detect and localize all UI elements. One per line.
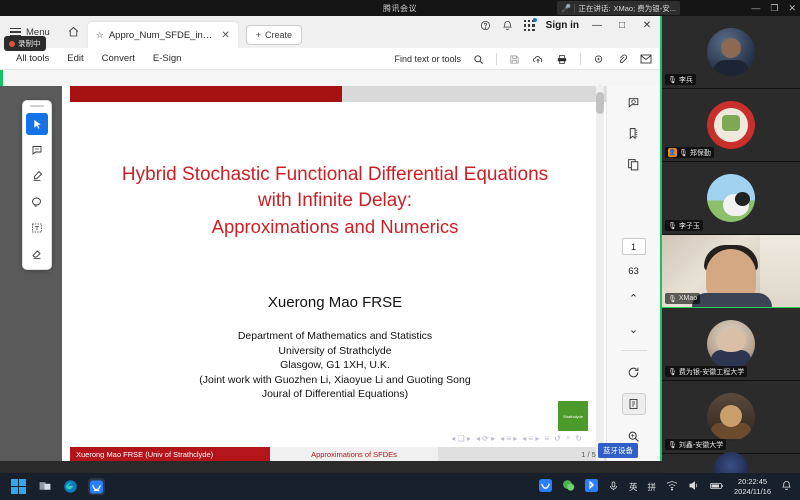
participant-name-badge: 🎙 XMao bbox=[665, 293, 700, 304]
affiliation-line2: University of Strathclyde bbox=[62, 344, 608, 359]
document-tab[interactable]: ☆ Appro_Num_SFDE_inft... ✕ bbox=[88, 22, 238, 48]
select-tool-button[interactable] bbox=[26, 113, 48, 135]
participant-name-badge: 🎙 李子玉 bbox=[665, 220, 703, 231]
apps-grid-icon[interactable] bbox=[524, 20, 535, 31]
participant-tile[interactable]: 🎙 费为银-安徽工程大学 bbox=[662, 308, 800, 381]
mic-muted-icon: 🎙 bbox=[668, 441, 677, 449]
help-icon[interactable] bbox=[480, 20, 491, 31]
avatar bbox=[707, 101, 755, 149]
participant-name: 李兵 bbox=[679, 75, 693, 85]
search-icon[interactable] bbox=[473, 54, 484, 65]
edit-button[interactable]: Edit bbox=[67, 53, 83, 64]
bluetooth-device-button[interactable]: 蓝牙设备 bbox=[598, 443, 638, 458]
meeting-app-title: 腾讯会议 bbox=[383, 3, 417, 14]
toolbar-right-group: Find text or tools bbox=[394, 48, 652, 70]
close-icon[interactable]: ✕ bbox=[221, 30, 229, 41]
windows-start-button[interactable] bbox=[10, 478, 27, 495]
home-icon bbox=[67, 26, 80, 38]
mic-muted-icon: 🎙 bbox=[668, 368, 677, 376]
taskbar-apps bbox=[0, 478, 105, 495]
participant-tile-active-speaker[interactable]: 🎙 XMao bbox=[662, 235, 800, 308]
slide-footer: Xuerong Mao FRSE (Univ of Strathclyde) A… bbox=[70, 447, 608, 461]
slide-title-line1: Hybrid Stochastic Functional Differentia… bbox=[62, 162, 608, 188]
participant-name: 郑保勤 bbox=[690, 148, 711, 158]
divider bbox=[580, 53, 581, 65]
slide-footer-left: Xuerong Mao FRSE (Univ of Strathclyde) bbox=[70, 447, 270, 461]
speaking-name: XMao; 费为银-安... bbox=[613, 3, 676, 14]
host-badge-icon: 👤 bbox=[668, 148, 677, 157]
nav-second-group[interactable]: ◂ ⟳ ▸ bbox=[476, 434, 495, 443]
annotation-toolbar bbox=[22, 100, 52, 270]
acrobat-window: Menu ☆ Appro_Num_SFDE_inft... ✕ + Create bbox=[0, 16, 662, 473]
mic-active-icon: 🎙 bbox=[668, 295, 677, 303]
next-page-button[interactable]: ⌄ bbox=[623, 319, 645, 339]
participant-tile[interactable]: 🎙 李兵 bbox=[662, 16, 800, 89]
affiliation-line5: Joural of Differential Equations) bbox=[62, 387, 608, 402]
taskbar-system-tray: 英 拼 20:22:45 2024/11/16 bbox=[539, 477, 792, 497]
participant-name: 刘鑫-安徽大学 bbox=[679, 440, 723, 450]
acrobat-top-right-controls: Sign in — □ ✕ bbox=[480, 20, 654, 31]
all-tools-button[interactable]: All tools bbox=[16, 53, 49, 64]
tencent-meeting-window: 腾讯会议 🎤 正在讲话: XMao; 费为银-安... — ❐ ✕ Menu bbox=[0, 0, 800, 500]
rotate-button[interactable] bbox=[623, 362, 645, 382]
acrobat-bottom-strip bbox=[0, 461, 662, 473]
wifi-icon[interactable] bbox=[666, 480, 678, 493]
pages-panel-icon[interactable] bbox=[623, 154, 645, 174]
edge-icon bbox=[63, 479, 78, 494]
nav-first-group[interactable]: ◂ ❑ ▸ bbox=[451, 434, 471, 443]
previous-page-button[interactable]: ⌃ bbox=[623, 288, 645, 308]
avatar bbox=[707, 393, 755, 441]
clock-date: 2024/11/16 bbox=[734, 487, 771, 497]
divider bbox=[574, 4, 575, 13]
create-label: Create bbox=[265, 30, 292, 40]
participant-tile[interactable]: 🎙 李子玉 bbox=[662, 162, 800, 235]
document-tab-title: Appro_Num_SFDE_inft... bbox=[109, 30, 215, 41]
meeting-close-button[interactable]: ✕ bbox=[788, 3, 796, 14]
participant-name-badge: 🎙 李兵 bbox=[665, 74, 696, 85]
save-icon[interactable] bbox=[509, 54, 520, 65]
highlighter-icon bbox=[31, 170, 43, 182]
bell-icon[interactable] bbox=[502, 20, 513, 31]
comment-tool-button[interactable] bbox=[26, 139, 48, 161]
mic-muted-icon: 🎙 bbox=[668, 76, 677, 84]
lasso-icon bbox=[31, 196, 43, 208]
nav-back-icon[interactable]: ↺ bbox=[554, 434, 561, 443]
star-icon[interactable]: ☆ bbox=[96, 30, 104, 41]
tray-mic-icon[interactable] bbox=[608, 480, 619, 494]
cursor-icon bbox=[32, 119, 43, 130]
battery-icon[interactable] bbox=[710, 481, 724, 493]
pdf-page[interactable]: Hybrid Stochastic Functional Differentia… bbox=[62, 86, 608, 461]
task-view-icon bbox=[38, 480, 52, 493]
affiliation-line1: Department of Mathematics and Statistics bbox=[62, 329, 608, 344]
create-button[interactable]: + Create bbox=[246, 25, 302, 45]
text-box-icon bbox=[31, 222, 43, 234]
windows-start-icon bbox=[11, 479, 26, 494]
stamp-icon[interactable] bbox=[593, 54, 605, 65]
fit-page-button[interactable] bbox=[622, 393, 646, 415]
slide-author: Xuerong Mao FRSE bbox=[62, 294, 608, 311]
participant-name-badge: 👤 🎙 郑保勤 bbox=[665, 147, 714, 158]
clock-time: 20:22:45 bbox=[734, 477, 771, 487]
university-logo-text: Strathclyde bbox=[563, 414, 583, 419]
edge-button[interactable] bbox=[62, 478, 79, 495]
windows-taskbar: 英 拼 20:22:45 2024/11/16 bbox=[0, 473, 800, 500]
scrollbar-track[interactable] bbox=[596, 86, 604, 461]
draw-tool-button[interactable] bbox=[26, 191, 48, 213]
tray-tencent-meeting-icon[interactable] bbox=[539, 479, 552, 494]
tray-wechat-icon[interactable] bbox=[562, 479, 575, 494]
mail-icon[interactable] bbox=[640, 54, 652, 64]
plus-icon: + bbox=[256, 30, 261, 40]
find-label[interactable]: Find text or tools bbox=[394, 54, 461, 64]
drag-handle[interactable] bbox=[30, 105, 44, 107]
highlight-tool-button[interactable] bbox=[26, 165, 48, 187]
recording-dot-icon bbox=[9, 41, 15, 47]
nav-third-group[interactable]: ◂ ≡ ▸ bbox=[500, 434, 517, 443]
slide-footer-page: 1 / 58 bbox=[438, 447, 608, 461]
recording-indicator: 录制中 bbox=[4, 36, 46, 51]
bookmark-panel-icon[interactable] bbox=[623, 123, 645, 143]
volume-icon[interactable] bbox=[688, 480, 700, 493]
zoom-level-value[interactable]: 63 bbox=[628, 266, 639, 277]
ime-language-indicator[interactable]: 英 bbox=[629, 481, 638, 493]
meeting-titlebar: 腾讯会议 bbox=[0, 0, 800, 16]
slide-header-highlight bbox=[70, 86, 342, 102]
task-view-button[interactable] bbox=[36, 478, 53, 495]
nav-forward-icon[interactable]: ↻ bbox=[575, 434, 582, 443]
nav-search-icon[interactable]: ⌕ bbox=[566, 433, 570, 443]
avatar bbox=[707, 28, 755, 76]
acrobat-close-button[interactable]: ✕ bbox=[640, 20, 654, 31]
participant-tile[interactable]: 🎙 刘鑫-安徽大学 bbox=[662, 381, 800, 454]
participant-name-badge: 🎙 费为银-安徽工程大学 bbox=[665, 366, 747, 377]
acrobat-tabbar: Menu ☆ Appro_Num_SFDE_inft... ✕ + Create bbox=[0, 16, 660, 48]
recording-label: 录制中 bbox=[18, 38, 41, 49]
avatar bbox=[714, 452, 748, 474]
scrollbar-thumb[interactable] bbox=[596, 92, 604, 114]
screen: 腾讯会议 🎤 正在讲话: XMao; 费为银-安... — ❐ ✕ Menu bbox=[0, 0, 800, 500]
divider bbox=[621, 350, 647, 351]
notification-bell-icon[interactable] bbox=[781, 480, 792, 493]
mic-muted-icon: 🎙 bbox=[668, 222, 677, 230]
meeting-window-controls[interactable]: — ❐ ✕ bbox=[751, 0, 796, 16]
slide-header-bar bbox=[70, 86, 608, 102]
eraser-icon bbox=[31, 248, 43, 260]
tencent-meeting-button[interactable] bbox=[88, 478, 105, 495]
acrobat-right-rail: 1 63 ⌃ ⌄ bbox=[606, 86, 660, 461]
participant-name: 李子玉 bbox=[679, 221, 700, 231]
page-number-input[interactable]: 1 bbox=[622, 238, 646, 255]
nav-end-icon[interactable]: ≡ bbox=[544, 434, 549, 443]
participant-name: XMao bbox=[679, 295, 697, 302]
slide-footer-center: Approximations of SFDEs bbox=[270, 447, 438, 461]
pdf-document-area: Hybrid Stochastic Functional Differentia… bbox=[0, 86, 608, 461]
meeting-restore-button[interactable]: ❐ bbox=[770, 3, 778, 14]
meeting-minimize-button[interactable]: — bbox=[751, 3, 760, 13]
slide-affiliation: Department of Mathematics and Statistics… bbox=[62, 329, 608, 402]
participant-tile[interactable] bbox=[662, 454, 800, 473]
affiliation-line3: Glasgow, G1 1XH, U.K. bbox=[62, 358, 608, 373]
print-icon[interactable] bbox=[556, 54, 568, 65]
home-button[interactable] bbox=[60, 16, 88, 48]
erase-tool-button[interactable] bbox=[26, 243, 48, 265]
participant-sidebar: 🎙 李兵 👤 🎙 郑保勤 🎙 李子玉 bbox=[662, 16, 800, 473]
avatar bbox=[707, 320, 755, 368]
slide-title-line2: with Infinite Delay: bbox=[62, 188, 608, 214]
nav-fourth-group[interactable]: ◂ ≡ ▸ bbox=[522, 434, 539, 443]
acrobat-maximize-button[interactable]: □ bbox=[615, 20, 629, 31]
sign-in-button[interactable]: Sign in bbox=[546, 20, 579, 31]
link-icon[interactable] bbox=[617, 54, 628, 65]
taskbar-clock[interactable]: 20:22:45 2024/11/16 bbox=[734, 477, 771, 497]
ime-pinyin-indicator[interactable]: 拼 bbox=[648, 481, 657, 493]
avatar bbox=[707, 174, 755, 222]
esign-button[interactable]: E-Sign bbox=[153, 53, 182, 64]
speaking-indicator: 🎤 正在讲话: XMao; 费为银-安... bbox=[557, 1, 680, 15]
comment-panel-icon[interactable] bbox=[623, 92, 645, 112]
textbox-tool-button[interactable] bbox=[26, 217, 48, 239]
acrobat-minimize-button[interactable]: — bbox=[590, 20, 604, 31]
comment-icon bbox=[31, 144, 43, 156]
tray-bluetooth-icon[interactable] bbox=[585, 479, 598, 494]
slide-navigation-bar[interactable]: ◂ ❑ ▸ ◂ ⟳ ▸ ◂ ≡ ▸ ◂ ≡ ▸ ≡ ↺ ⌕ ↻ bbox=[451, 433, 582, 443]
tencent-meeting-icon bbox=[90, 480, 103, 494]
notification-dot bbox=[533, 18, 537, 22]
participant-name: 费为银-安徽工程大学 bbox=[679, 367, 744, 377]
convert-button[interactable]: Convert bbox=[102, 53, 135, 64]
participant-name-badge: 🎙 刘鑫-安徽大学 bbox=[665, 439, 726, 450]
mic-active-icon: 🎤 bbox=[561, 4, 571, 13]
slide-title: Hybrid Stochastic Functional Differentia… bbox=[62, 162, 608, 240]
upload-cloud-icon[interactable] bbox=[532, 54, 544, 65]
participant-tile[interactable]: 👤 🎙 郑保勤 bbox=[662, 89, 800, 162]
affiliation-line4: (Joint work with Guozhen Li, Xiaoyue Li … bbox=[62, 373, 608, 388]
video-person-body bbox=[692, 293, 772, 307]
divider bbox=[496, 53, 497, 65]
speaking-label: 正在讲话: bbox=[578, 3, 610, 14]
mic-muted-icon: 🎙 bbox=[679, 149, 688, 157]
acrobat-toolbar: All tools Edit Convert E-Sign Find text … bbox=[0, 48, 660, 70]
slide-title-line3: Approximations and Numerics bbox=[62, 214, 608, 240]
